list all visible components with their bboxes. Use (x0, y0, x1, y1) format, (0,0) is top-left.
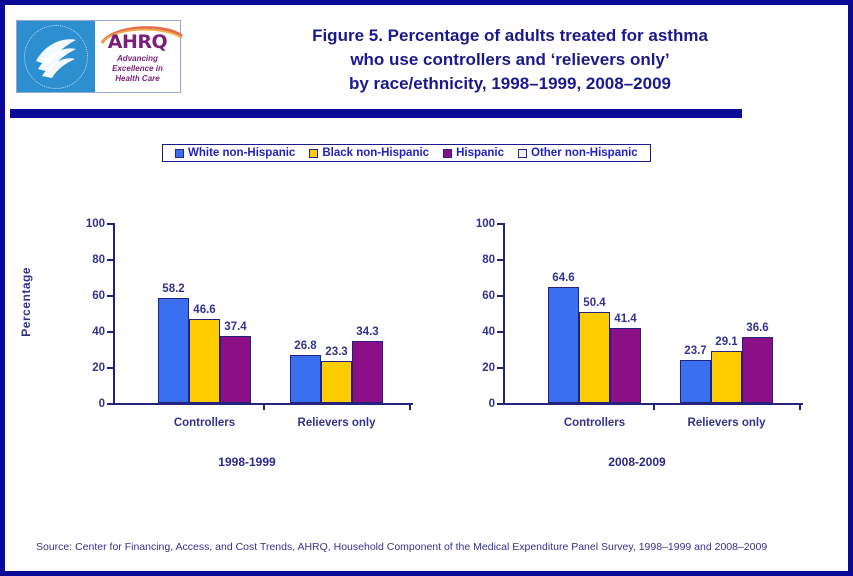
bar-value-label: 41.4 (614, 313, 636, 325)
bar-value-label: 58.2 (162, 283, 184, 295)
y-axis-tick-label: 100 (86, 218, 105, 230)
y-axis-tick-label: 100 (476, 218, 495, 230)
y-axis-tick-label: 80 (482, 254, 495, 266)
legend-item-label: Hispanic (456, 147, 504, 159)
plot-area: 02040608010064.650.441.4Controllers23.72… (503, 223, 803, 405)
chart-legend: White non-HispanicBlack non-HispanicHisp… (162, 144, 651, 162)
x-axis-category-label: Controllers (174, 417, 235, 429)
legend-swatch-icon (309, 149, 318, 158)
legend-item-2: Hispanic (443, 147, 504, 159)
bar-value-label: 23.7 (684, 345, 706, 357)
bar (680, 360, 711, 403)
y-axis-tick-label: 0 (99, 398, 105, 410)
legend-swatch-icon (175, 149, 184, 158)
bar-value-label: 23.3 (325, 346, 347, 358)
legend-item-1: Black non-Hispanic (309, 147, 429, 159)
y-axis-tick (107, 331, 113, 333)
bar (321, 361, 352, 403)
bar-value-label: 50.4 (583, 297, 605, 309)
y-axis-title: Percentage (19, 267, 33, 337)
y-axis-tick-label: 80 (92, 254, 105, 266)
y-axis-tick-label: 40 (482, 326, 495, 338)
bar-value-label: 34.3 (356, 326, 378, 338)
y-axis-tick (497, 403, 503, 405)
x-axis-tick (799, 405, 801, 410)
bar (158, 298, 189, 403)
y-axis-tick (497, 331, 503, 333)
hhs-seal-icon (17, 21, 95, 92)
y-axis-tick (497, 259, 503, 261)
figure-title-line1: Figure 5. Percentage of adults treated f… (200, 24, 820, 48)
bar (290, 355, 321, 403)
y-axis-tick-label: 20 (482, 362, 495, 374)
legend-swatch-icon (518, 149, 527, 158)
y-axis-tick (107, 367, 113, 369)
bar-value-label: 26.8 (294, 340, 316, 352)
figure-header: AHRQ Advancing Excellence in Health Care… (10, 10, 853, 104)
chart-panel-1998-1999: 02040608010058.246.637.4Controllers26.82… (67, 217, 427, 477)
bar (189, 319, 220, 403)
panel-period-label: 1998-1999 (67, 455, 427, 469)
x-axis-category-label: Relievers only (688, 417, 766, 429)
figure-title-line3: by race/ethnicity, 1998–1999, 2008–2009 (200, 72, 820, 96)
y-axis-tick-label: 20 (92, 362, 105, 374)
header-divider-rule (10, 109, 742, 118)
bar (352, 341, 383, 403)
bar-value-label: 29.1 (715, 336, 737, 348)
bar-value-label: 64.6 (552, 272, 574, 284)
y-axis-line (503, 223, 505, 405)
y-axis-tick (497, 223, 503, 225)
ahrq-tagline-line3: Health Care (112, 74, 163, 84)
figure-title-line2: who use controllers and ‘relievers only’ (200, 48, 820, 72)
legend-swatch-icon (443, 149, 452, 158)
ahrq-logo: AHRQ Advancing Excellence in Health Care (16, 20, 181, 93)
legend-item-label: White non-Hispanic (188, 147, 295, 159)
x-axis-tick (653, 405, 655, 410)
ahrq-brand-text: AHRQ (108, 33, 167, 52)
y-axis-tick-label: 40 (92, 326, 105, 338)
legend-item-label: Other non-Hispanic (531, 147, 638, 159)
legend-item-label: Black non-Hispanic (322, 147, 429, 159)
bar (579, 312, 610, 403)
x-axis-tick (409, 405, 411, 410)
bar (742, 337, 773, 403)
bar-value-label: 36.6 (746, 322, 768, 334)
bar (610, 328, 641, 403)
figure-title: Figure 5. Percentage of adults treated f… (200, 24, 820, 96)
bar (220, 336, 251, 403)
chart-panel-2008-2009: 02040608010064.650.441.4Controllers23.72… (457, 217, 817, 477)
ahrq-wordmark: AHRQ Advancing Excellence in Health Care (95, 21, 180, 92)
bar-value-label: 37.4 (224, 321, 246, 333)
bar (711, 351, 742, 403)
panel-period-label: 2008-2009 (457, 455, 817, 469)
legend-item-0: White non-Hispanic (175, 147, 295, 159)
figure-page: AHRQ Advancing Excellence in Health Care… (0, 0, 853, 576)
ahrq-tagline-line2: Excellence in (112, 64, 163, 74)
y-axis-tick (107, 223, 113, 225)
y-axis-tick (107, 403, 113, 405)
y-axis-line (113, 223, 115, 405)
y-axis-tick (497, 295, 503, 297)
bar (548, 287, 579, 403)
ahrq-tagline-line1: Advancing (112, 54, 163, 64)
plot-area: 02040608010058.246.637.4Controllers26.82… (113, 223, 413, 405)
y-axis-tick (107, 295, 113, 297)
bar-value-label: 46.6 (193, 304, 215, 316)
y-axis-tick (107, 259, 113, 261)
y-axis-tick (497, 367, 503, 369)
x-axis-tick (263, 405, 265, 410)
y-axis-tick-label: 0 (489, 398, 495, 410)
legend-item-3: Other non-Hispanic (518, 147, 638, 159)
source-note: Source: Center for Financing, Access, an… (36, 540, 836, 554)
y-axis-tick-label: 60 (92, 290, 105, 302)
y-axis-tick-label: 60 (482, 290, 495, 302)
ahrq-tagline: Advancing Excellence in Health Care (112, 54, 163, 84)
x-axis-category-label: Controllers (564, 417, 625, 429)
x-axis-category-label: Relievers only (298, 417, 376, 429)
